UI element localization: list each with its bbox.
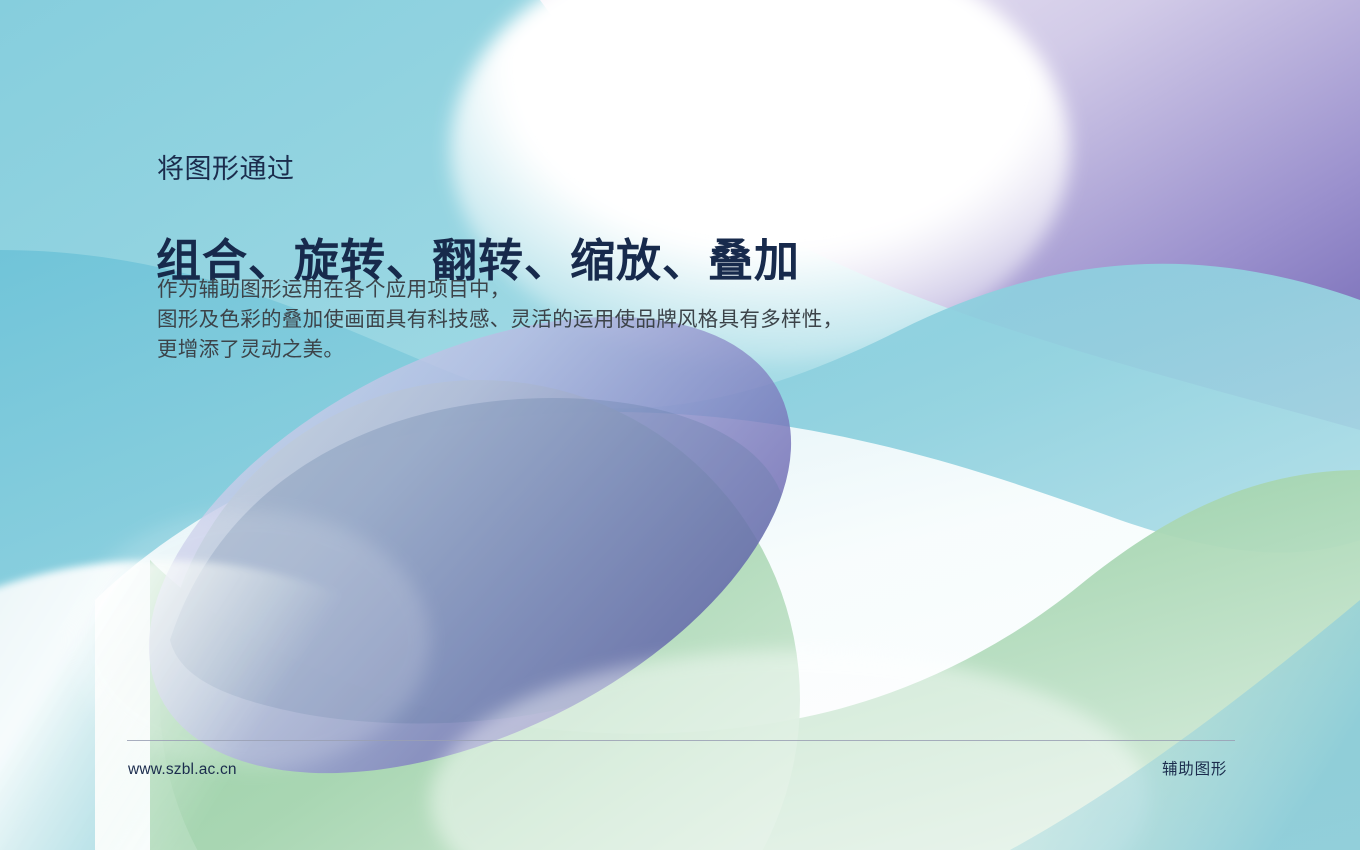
body-line-2: 图形及色彩的叠加使画面具有科技感、灵活的运用使品牌风格具有多样性，: [157, 305, 843, 335]
eyebrow-text: 将图形通过: [157, 152, 295, 186]
footer-website-url[interactable]: www.szbl.ac.cn: [128, 760, 237, 780]
brand-guideline-page: 将图形通过 组合、旋转、翻转、缩放、叠加 作为辅助图形运用在各个应用项目中， 图…: [0, 0, 1360, 850]
footer-divider: [127, 740, 1235, 741]
body-copy: 作为辅助图形运用在各个应用项目中， 图形及色彩的叠加使画面具有科技感、灵活的运用…: [157, 275, 843, 365]
footer-section-label: 辅助图形: [1162, 759, 1227, 781]
text-layer: 将图形通过 组合、旋转、翻转、缩放、叠加 作为辅助图形运用在各个应用项目中， 图…: [0, 0, 1360, 850]
body-line-3: 更增添了灵动之美。: [157, 335, 843, 365]
body-line-1: 作为辅助图形运用在各个应用项目中，: [157, 275, 843, 305]
